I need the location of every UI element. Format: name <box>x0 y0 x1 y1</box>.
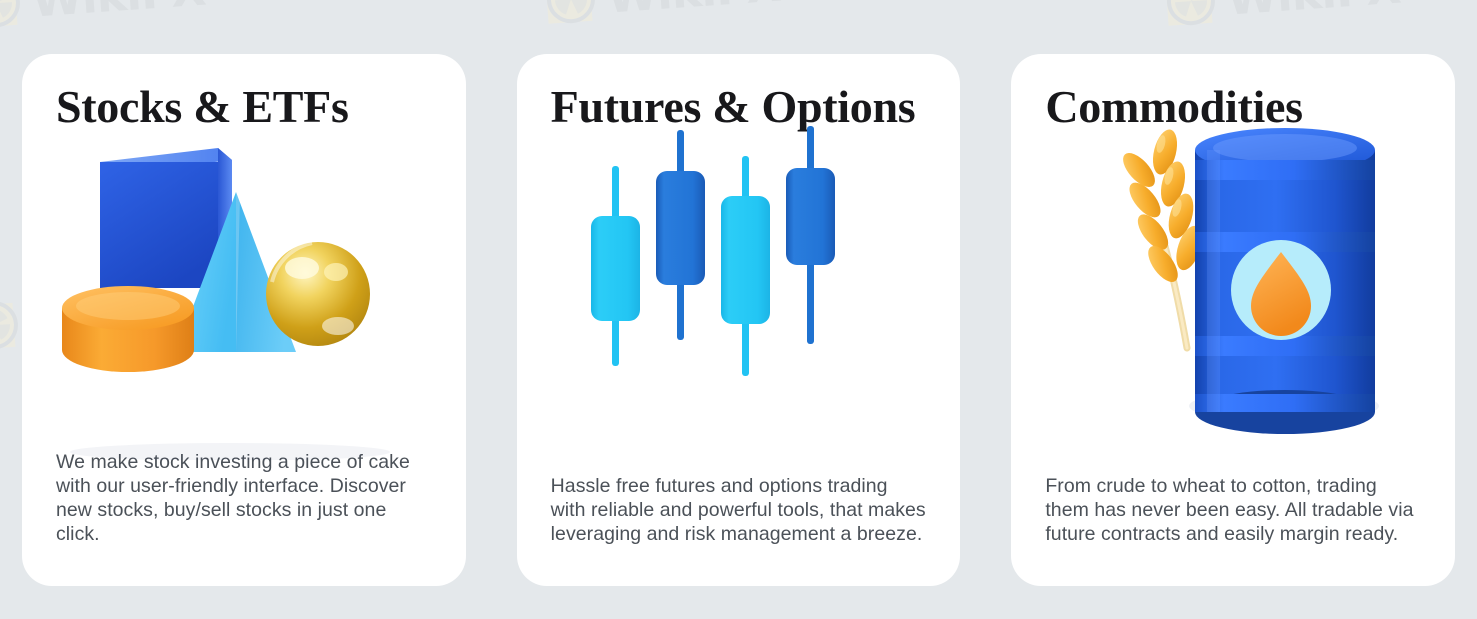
feature-card-futures-options[interactable]: Futures & Options <box>517 54 961 586</box>
oil-droplet-badge <box>1231 240 1331 340</box>
feature-card-grid: Stocks & ETFs <box>22 54 1455 586</box>
golden-wheat-stalk <box>1118 127 1207 348</box>
oil-barrel-and-wheat-illustration <box>1011 134 1455 474</box>
watermark-text: WikiFX <box>30 0 207 28</box>
wikifx-shutter-logo-icon <box>1163 0 1219 29</box>
feature-card-stocks-etfs[interactable]: Stocks & ETFs <box>22 54 466 586</box>
gold-sphere <box>266 242 370 346</box>
3d-geometric-shapes-illustration <box>22 134 466 450</box>
wikifx-shutter-logo-icon <box>0 297 22 353</box>
wikifx-shutter-logo-icon <box>543 0 599 27</box>
watermark-text: WikiFX <box>605 0 782 24</box>
candle-4-blue <box>786 126 835 344</box>
card-description: Hassle free futures and options trading … <box>551 474 927 546</box>
watermark: WikiFX <box>1163 0 1402 30</box>
orange-cylinder <box>62 286 194 372</box>
feature-card-commodities[interactable]: Commodities <box>1011 54 1455 586</box>
card-title: Stocks & ETFs <box>56 80 466 134</box>
wikifx-shutter-logo-icon <box>0 0 24 31</box>
watermark: WikiFX <box>543 0 782 28</box>
blue-oil-barrel <box>1189 128 1379 434</box>
watermark: WikiFX <box>0 0 207 32</box>
candlestick-chart-illustration <box>517 134 961 474</box>
watermark-text: WikiFX <box>1225 0 1402 26</box>
candle-2-blue <box>656 130 705 340</box>
candle-1-cyan <box>591 166 640 366</box>
card-description: We make stock investing a piece of cake … <box>56 450 432 546</box>
candle-3-cyan <box>721 156 770 376</box>
card-description: From crude to wheat to cotton, trading t… <box>1045 474 1421 546</box>
